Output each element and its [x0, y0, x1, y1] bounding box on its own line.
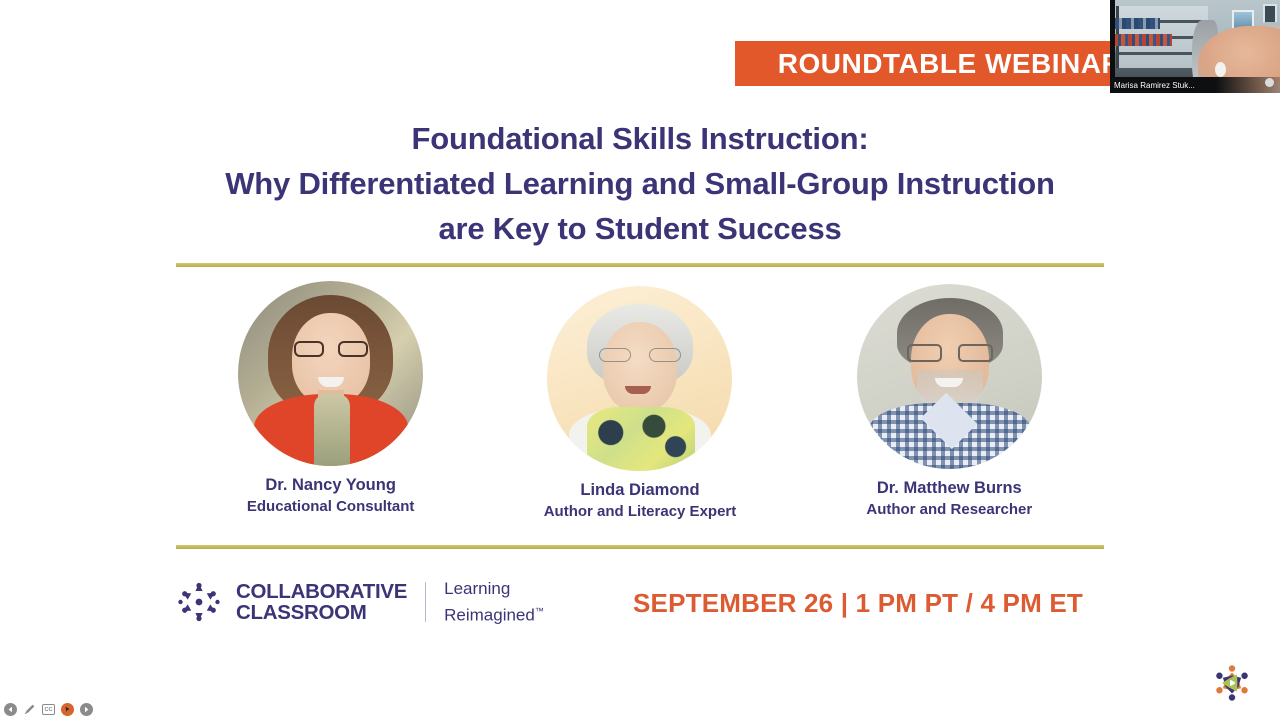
tagline-trademark: ™	[535, 606, 544, 616]
participant-video-tile[interactable]: Marisa Ramirez Stuk...	[1110, 0, 1280, 93]
tagline-line-1: Learning	[444, 578, 544, 600]
speakers-row: Dr. Nancy Young Educational Consultant L…	[176, 283, 1104, 533]
glasses-icon	[907, 344, 993, 362]
avatar-linda-diamond	[547, 286, 732, 471]
avatar-nancy-young	[238, 281, 423, 466]
speaker-name: Linda Diamond	[495, 480, 785, 501]
tagline-line-2: Reimagined	[444, 606, 535, 625]
glasses-icon	[294, 341, 368, 357]
divider-bottom	[176, 545, 1104, 549]
snowflake-logo-icon	[176, 579, 222, 625]
title-line-2: Why Differentiated Learning and Small-Gr…	[160, 161, 1120, 206]
webinar-date-time: SEPTEMBER 26 | 1 PM PT / 4 PM ET	[633, 588, 1083, 619]
avatar-matthew-burns	[857, 284, 1042, 469]
annotation-toolbar[interactable]: CC	[4, 703, 93, 716]
speaker-card-1: Dr. Nancy Young Educational Consultant	[186, 281, 476, 517]
speaker-name: Dr. Matthew Burns	[804, 478, 1094, 499]
collaborative-classroom-logo: COLLABORATIVE CLASSROOM Learning Reimagi…	[176, 578, 544, 627]
logo-word-line-1: COLLABORATIVE	[236, 581, 407, 602]
roundtable-webinar-banner: ROUNDTABLE WEBINAR	[735, 41, 1155, 86]
speaker-role: Author and Researcher	[804, 499, 1094, 520]
title-line-3: are Key to Student Success	[160, 206, 1120, 251]
brand-circle-logo-icon	[1209, 660, 1255, 706]
previous-slide-button[interactable]	[4, 703, 17, 716]
speaker-card-3: Dr. Matthew Burns Author and Researcher	[804, 284, 1094, 520]
speaker-role: Author and Literacy Expert	[495, 501, 785, 522]
video-status-indicator-icon	[1265, 78, 1274, 87]
laser-pointer-button[interactable]	[61, 703, 74, 716]
speaker-role: Educational Consultant	[186, 496, 476, 517]
books-decor-upper	[1114, 18, 1160, 29]
divider-top	[176, 263, 1104, 267]
participant-name-label: Marisa Ramirez Stuk...	[1110, 80, 1199, 91]
page-title: Foundational Skills Instruction: Why Dif…	[160, 116, 1120, 251]
speaker-name: Dr. Nancy Young	[186, 475, 476, 496]
wall-frame-decor	[1263, 4, 1277, 24]
closed-captions-button[interactable]: CC	[42, 703, 55, 716]
pen-tool-button[interactable]	[23, 703, 36, 716]
books-decor-lower	[1114, 34, 1172, 46]
presentation-slide: ROUNDTABLE WEBINAR Marisa Ramirez Stuk..…	[0, 0, 1280, 720]
cc-icon: CC	[42, 704, 55, 715]
next-slide-button[interactable]	[80, 703, 93, 716]
speaker-card-2: Linda Diamond Author and Literacy Expert	[495, 286, 785, 522]
logo-divider	[425, 582, 426, 622]
logo-word-line-2: CLASSROOM	[236, 602, 407, 623]
logo-wordmark: COLLABORATIVE CLASSROOM	[236, 581, 407, 623]
title-line-1: Foundational Skills Instruction:	[160, 116, 1120, 161]
glasses-icon	[599, 348, 681, 362]
banner-label: ROUNDTABLE WEBINAR	[768, 48, 1122, 80]
logo-tagline: Learning Reimagined™	[444, 578, 544, 627]
